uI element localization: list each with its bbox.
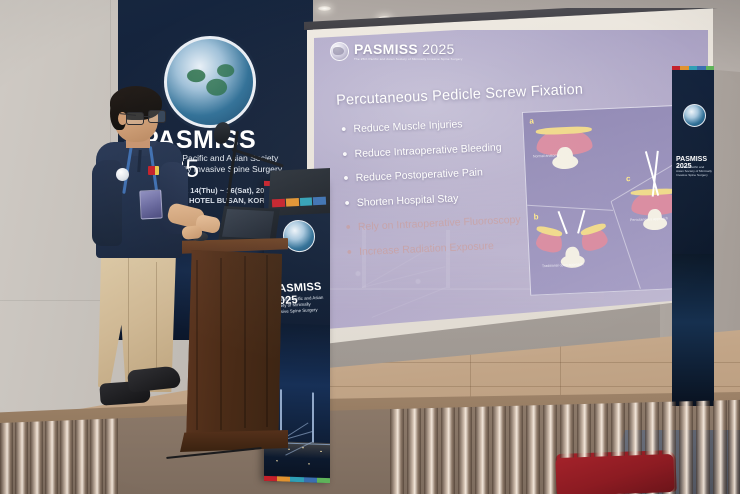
figure-panel-label-b: b [533,212,538,221]
red-cushion-front [555,454,674,494]
pasmiss-globe-logo-icon [164,36,256,128]
right-banner-globe-icon [683,104,706,127]
confidence-monitor [268,168,330,216]
glasses-bridge [143,116,150,117]
logo-pin-icon [116,168,129,181]
right-banner: PASMISS 2025 The 25th Pacific and Asian … [672,66,714,344]
bullet-dot-icon: ● [342,148,348,160]
attendee-badge [139,189,162,219]
bullet-dot-icon: ● [343,172,349,184]
flag-pin-icon [148,166,159,175]
bullet-dot-icon: ● [345,221,351,233]
right-banner-subtitle: The 25th Pacific and Asian Society of Mi… [676,165,712,178]
right-banner-photo [672,254,714,406]
conference-photo-scene: PASMISS 2025 The 25th Pacific and Asian … [0,0,740,494]
slide-title: Percutaneous Pedicle Screw Fixation [336,79,636,109]
bullet-dot-icon: ● [341,123,347,135]
right-banner-accent-strip [672,66,714,70]
projection-screen: PASMISS 2025 The 25th Pacific and Asian … [300,8,720,353]
bullet-dot-icon: ● [344,197,350,209]
laptop-screen[interactable] [222,209,274,239]
bullet-dot-icon: ● [346,246,352,258]
figure-caption-b: Traditional open approach [542,262,584,268]
slide-brand-subtitle: The 25th Pacific and Asian Society of Mi… [354,57,463,61]
figure-panel-label-c: c [626,174,631,183]
figure-panel-label-a: a [529,116,534,125]
glasses-lens-right [148,110,166,123]
slide-brand-text: PASMISS 2025 [354,42,463,56]
globe-icon [330,42,349,61]
presentation-slide: PASMISS 2025 The 25th Pacific and Asian … [314,30,708,330]
slide-header-logo: PASMISS 2025 The 25th Pacific and Asian … [330,42,463,61]
